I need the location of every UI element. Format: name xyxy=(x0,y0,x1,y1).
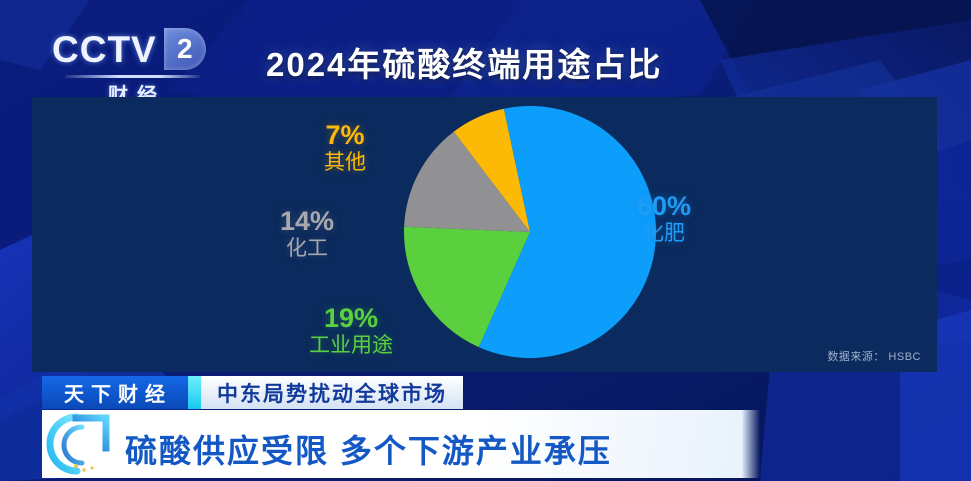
channel-name: CCTV xyxy=(52,31,157,68)
chart-panel: 60% 化肥 19% 工业用途 14% 化工 7% 其他 数据来源： HSBC xyxy=(32,97,937,372)
logo-underline xyxy=(65,75,200,78)
program-strap: 天下财经 中东局势扰动全球市场 xyxy=(42,376,463,409)
news-swoosh-icon xyxy=(46,408,118,478)
headline-text: 硫酸供应受限 多个下游产业承压 xyxy=(125,426,612,472)
pie-label-industrial-value: 19% xyxy=(309,304,393,333)
pie-label-fertilizer-value: 60% xyxy=(637,192,691,221)
pie-label-other-value: 7% xyxy=(324,121,366,150)
lower-third: 天下财经 中东局势扰动全球市场 硫酸供应受限 多个下游产业承压 xyxy=(0,374,971,481)
pie-label-chemical-value: 14% xyxy=(280,207,334,236)
page-title: 2024年硫酸终端用途占比 xyxy=(266,38,662,86)
broadcast-screen: CCTV 2 财经 2024年硫酸终端用途占比 60% 化肥 xyxy=(0,0,971,481)
channel-logo: CCTV 2 财经 xyxy=(52,26,222,104)
pie-label-chemical-name: 化工 xyxy=(280,238,334,261)
program-name: 天下财经 xyxy=(42,376,188,409)
topic-label: 中东局势扰动全球市场 xyxy=(201,376,463,409)
pie-label-industrial-name: 工业用途 xyxy=(309,335,393,358)
strap-divider xyxy=(188,376,201,409)
source-note: 数据来源： HSBC xyxy=(827,348,921,364)
headline-band-fade xyxy=(742,410,760,478)
pie-label-fertilizer: 60% 化肥 xyxy=(637,192,691,246)
channel-number: 2 xyxy=(164,28,206,70)
pie-label-industrial: 19% 工业用途 xyxy=(309,304,393,358)
pie-label-chemical: 14% 化工 xyxy=(280,207,334,261)
pie-label-other: 7% 其他 xyxy=(324,121,366,175)
pie-label-fertilizer-name: 化肥 xyxy=(637,223,691,246)
pie-label-other-name: 其他 xyxy=(324,152,366,175)
